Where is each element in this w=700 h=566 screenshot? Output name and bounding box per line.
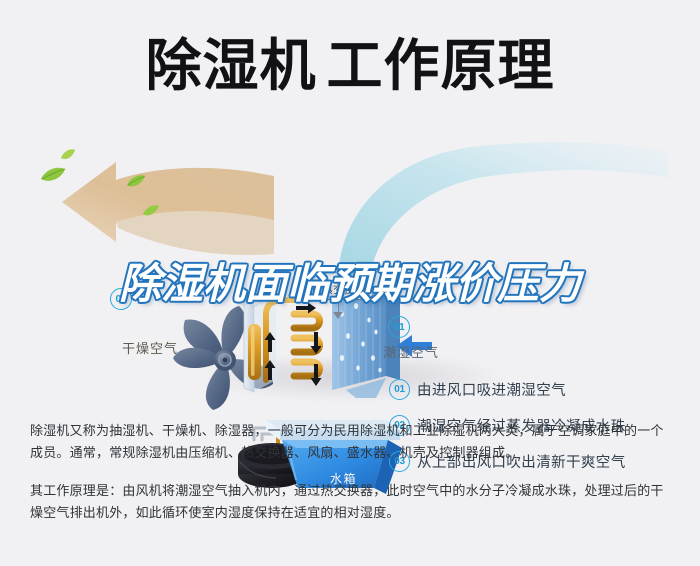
humid-air-swoosh-icon <box>330 138 670 288</box>
leaf-icon <box>40 166 66 184</box>
step-text: 由进风口吸进潮湿空气 <box>417 379 566 400</box>
page-root: 除湿机工作原理 <box>0 0 700 566</box>
callout-tip <box>333 312 343 319</box>
dehumidifier-diagram: 热交换器 03 02 01 干燥空气 潮湿空气 水箱 01 由进风口吸进潮湿空气… <box>0 130 700 398</box>
heat-exchanger-callout: 热交换器 <box>314 280 374 300</box>
page-title: 除湿机工作原理 <box>0 38 700 94</box>
body-paragraph-2: 其工作原理是：由风机将潮湿空气抽入机内，通过热交换器，此时空气中的水分子冷凝成水… <box>30 480 672 524</box>
step-badge: 01 <box>389 379 410 400</box>
humid-air-label: 潮湿空气 <box>383 342 439 361</box>
article-body: 除湿机又称为抽湿机、干燥机、除湿器，一般可分为民用除湿机和工业除湿机两大类，属于… <box>30 420 672 524</box>
diagram-badge-02: 02 <box>292 280 314 302</box>
list-item: 01 由进风口吸进潮湿空气 <box>389 376 679 403</box>
leaf-icon <box>126 174 146 189</box>
diagram-badge-03: 03 <box>110 288 132 310</box>
leaf-icon <box>60 148 76 161</box>
page-title-part1: 除湿机 <box>146 38 317 94</box>
leaf-icon <box>142 204 160 218</box>
diagram-badge-01: 01 <box>388 316 410 338</box>
dry-air-arrow-icon <box>58 158 278 273</box>
body-paragraph-1: 除湿机又称为抽湿机、干燥机、除湿器，一般可分为民用除湿机和工业除湿机两大类，属于… <box>30 420 672 464</box>
dry-air-label: 干燥空气 <box>122 338 178 357</box>
page-title-part2: 工作原理 <box>327 38 555 94</box>
